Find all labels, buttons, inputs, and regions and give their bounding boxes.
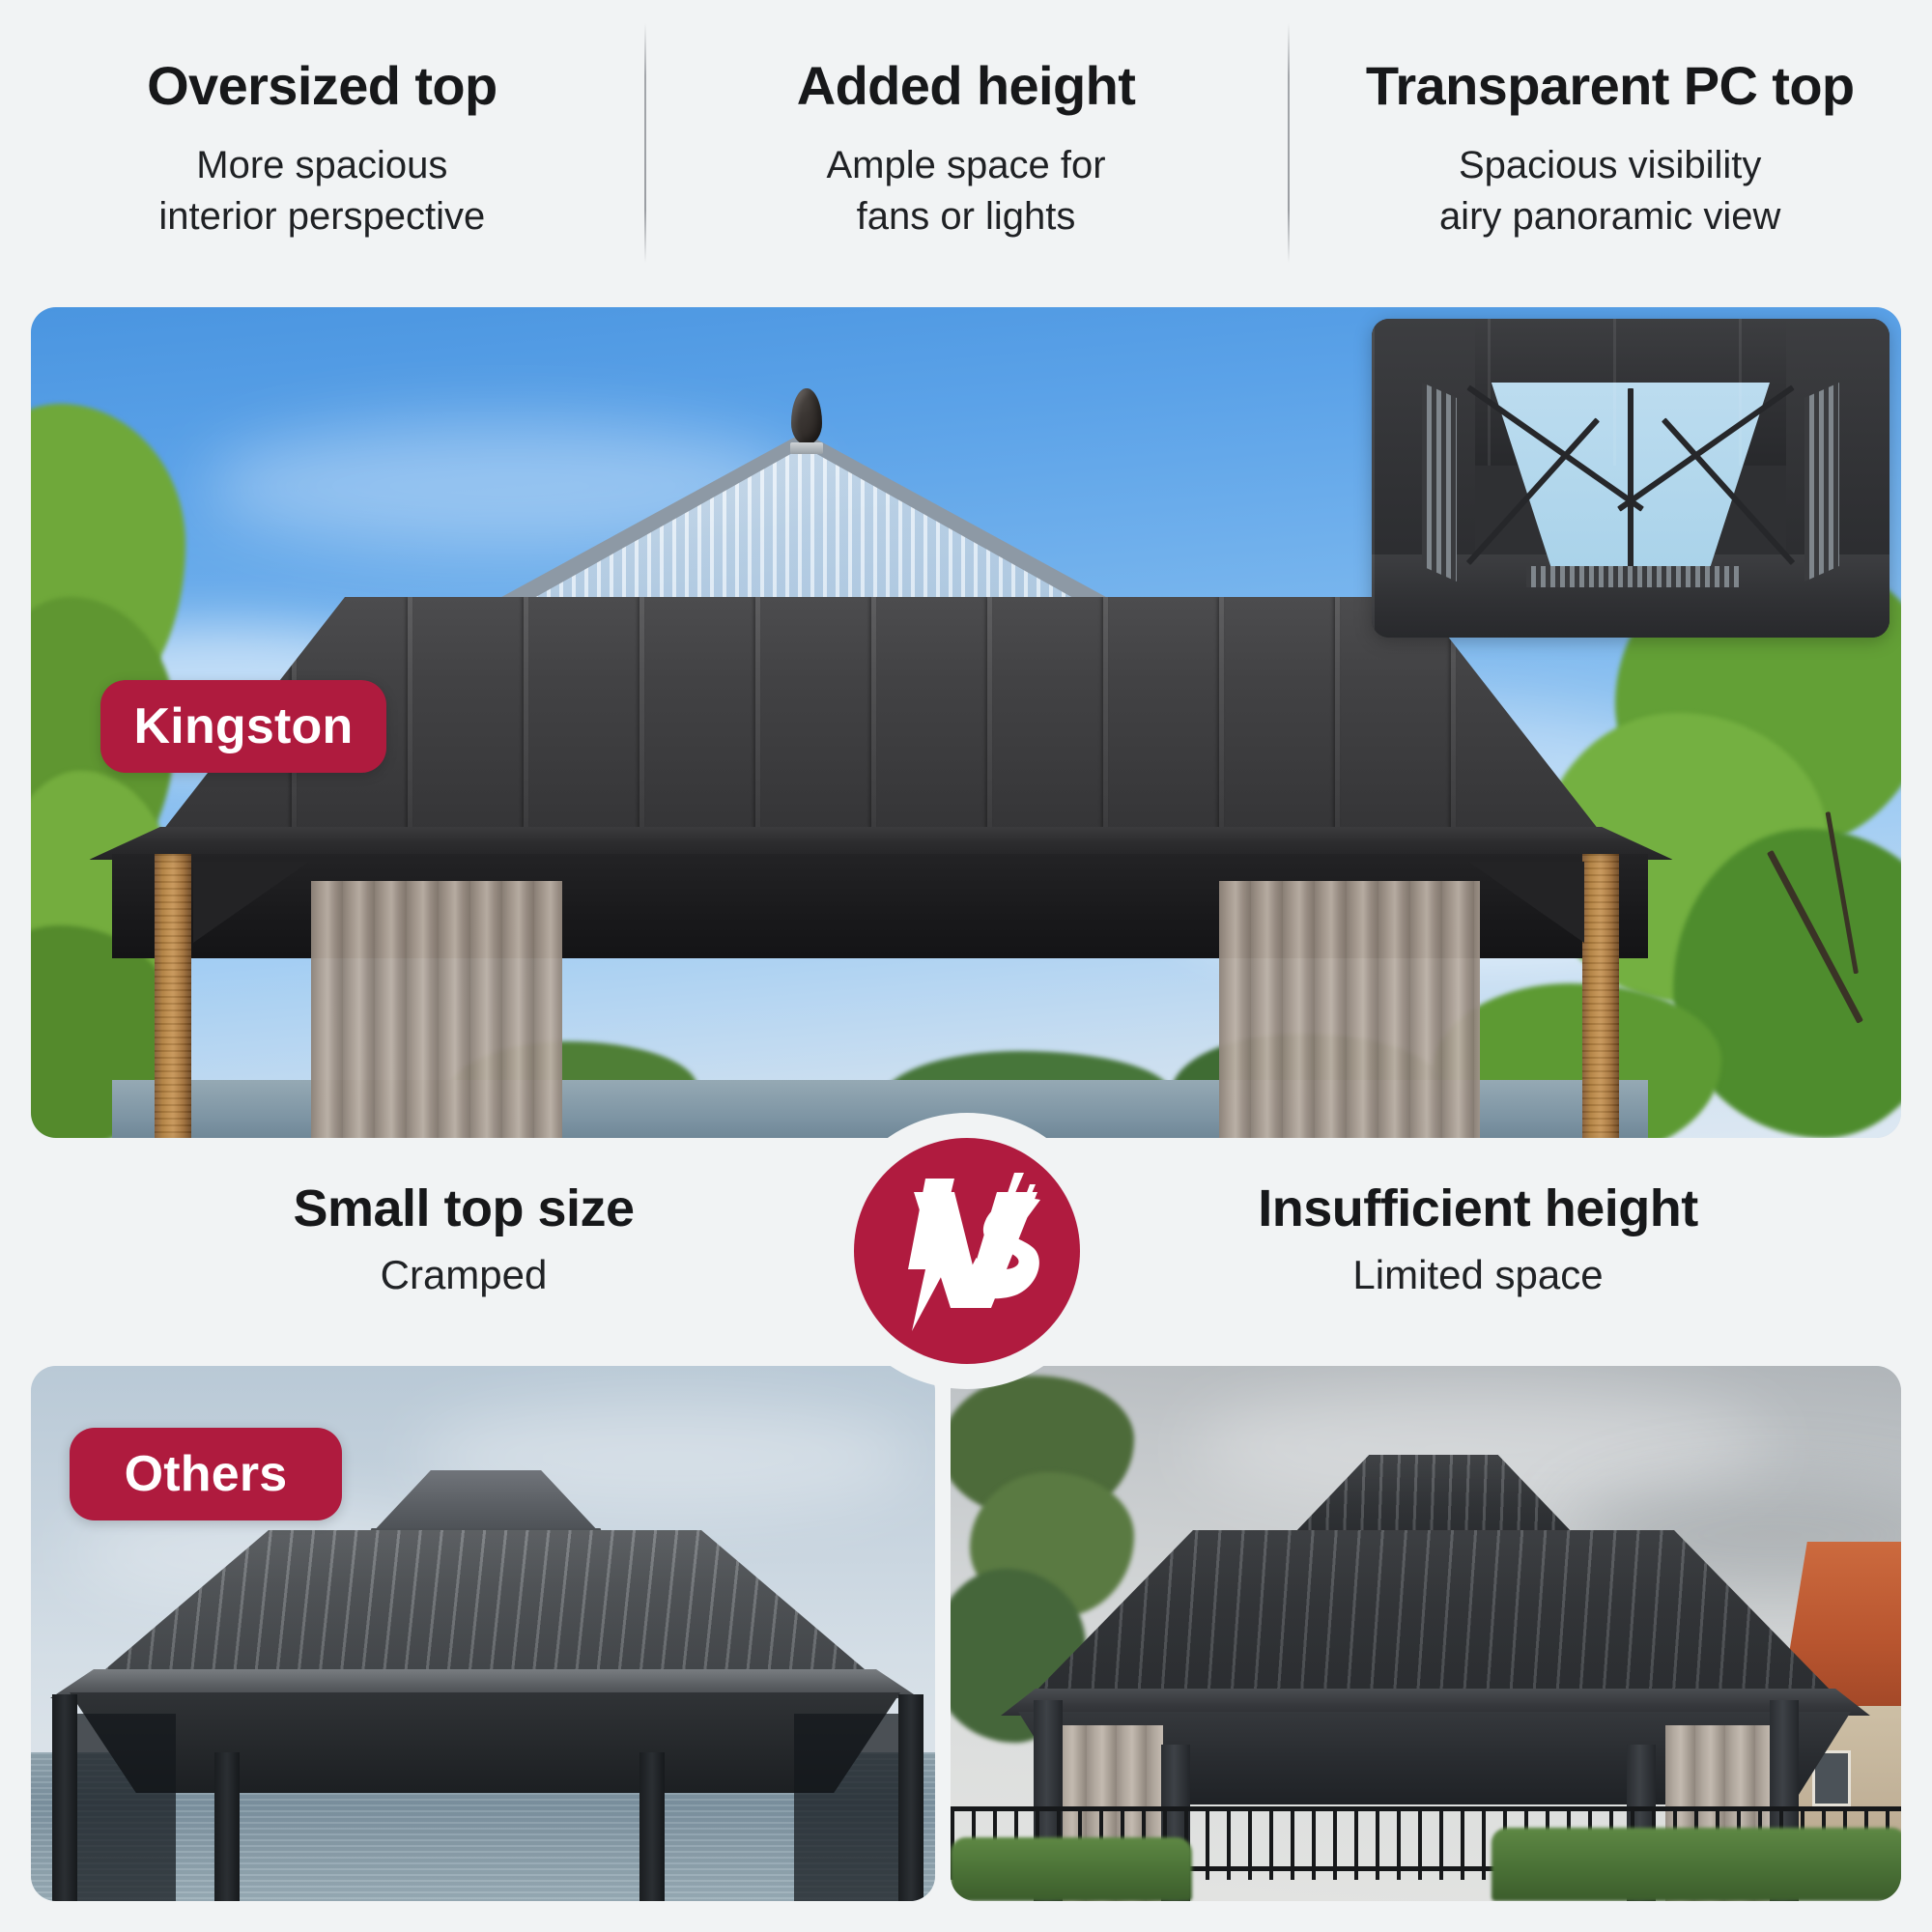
hedge <box>951 1837 1192 1901</box>
vs-lightning-icon <box>854 1138 1080 1364</box>
curtain-panel <box>311 881 562 1138</box>
roof-eave <box>1001 1689 1870 1716</box>
kingston-badge: Kingston <box>100 680 386 773</box>
roof-seam <box>871 597 876 838</box>
vs-badge <box>854 1138 1080 1364</box>
feature-subtitle-line2: fans or lights <box>644 191 1289 242</box>
roof-seam <box>408 597 412 838</box>
drawback-right: Insufficient height Limited space <box>1140 1179 1816 1298</box>
feature-subtitle-line1: Ample space for <box>644 140 1289 191</box>
competitor-height-photo <box>951 1366 1901 1901</box>
drawback-left: Small top size Cramped <box>126 1179 802 1298</box>
feature-column-transparent-pc-top: Transparent PC top Spacious visibility a… <box>1288 0 1932 242</box>
wood-grain-post <box>1582 854 1619 1138</box>
roof-seam <box>639 597 644 838</box>
ceiling-rib <box>1372 319 1375 638</box>
roof-seam <box>755 597 760 838</box>
others-badge: Others <box>70 1428 342 1520</box>
gazebo-post <box>639 1752 665 1901</box>
ceiling-view-inset <box>1372 319 1889 638</box>
feature-title: Added height <box>644 58 1289 115</box>
center-post-strut <box>1628 388 1634 572</box>
louver-vent <box>1422 383 1457 582</box>
drawback-title: Small top size <box>126 1179 802 1238</box>
feature-column-oversized-top: Oversized top More spacious interior per… <box>0 0 644 242</box>
feature-header: Oversized top More spacious interior per… <box>0 0 1932 301</box>
fence-rail <box>951 1806 1901 1811</box>
roof-seam <box>987 597 992 838</box>
louver-vent <box>1526 566 1739 587</box>
ceiling-rib <box>1613 319 1616 466</box>
feature-title: Oversized top <box>0 58 644 115</box>
curtain-panel <box>1219 881 1480 1138</box>
gazebo-post <box>898 1694 923 1901</box>
kingston-photo: Kingston <box>31 307 1901 1138</box>
kingston-badge-label: Kingston <box>134 697 354 755</box>
gazebo-post <box>52 1694 77 1901</box>
gazebo-post <box>214 1752 240 1901</box>
feature-title: Transparent PC top <box>1288 58 1932 115</box>
others-badge-label: Others <box>125 1445 288 1503</box>
feature-subtitle: Ample space for fans or lights <box>644 140 1289 242</box>
louver-vent <box>1804 383 1839 582</box>
feature-subtitle: Spacious visibility airy panoramic view <box>1288 140 1932 242</box>
feature-subtitle-line2: interior perspective <box>0 191 644 242</box>
feature-column-added-height: Added height Ample space for fans or lig… <box>644 0 1289 242</box>
others-photo: Others <box>31 1366 935 1901</box>
feature-subtitle: More spacious interior perspective <box>0 140 644 242</box>
roof-seam <box>1335 597 1340 838</box>
roof-seam <box>1103 597 1108 838</box>
roof-underside <box>70 1692 900 1793</box>
ceiling-rib <box>1488 319 1491 466</box>
roof-seam <box>524 597 528 838</box>
ceiling-rib <box>1739 319 1742 466</box>
drawback-title: Insufficient height <box>1140 1179 1816 1238</box>
roof-seam <box>1219 597 1224 838</box>
finial-base <box>790 442 823 454</box>
hedge <box>1492 1828 1901 1901</box>
mesh-netting <box>60 1714 176 1901</box>
column-divider <box>644 23 646 263</box>
drawback-subtitle: Limited space <box>1140 1252 1816 1298</box>
wood-grain-post <box>155 854 191 1138</box>
drawback-subtitle: Cramped <box>126 1252 802 1298</box>
feature-subtitle-line1: Spacious visibility <box>1288 140 1932 191</box>
feature-subtitle-line2: airy panoramic view <box>1288 191 1932 242</box>
feature-subtitle-line1: More spacious <box>0 140 644 191</box>
column-divider <box>1288 23 1290 263</box>
